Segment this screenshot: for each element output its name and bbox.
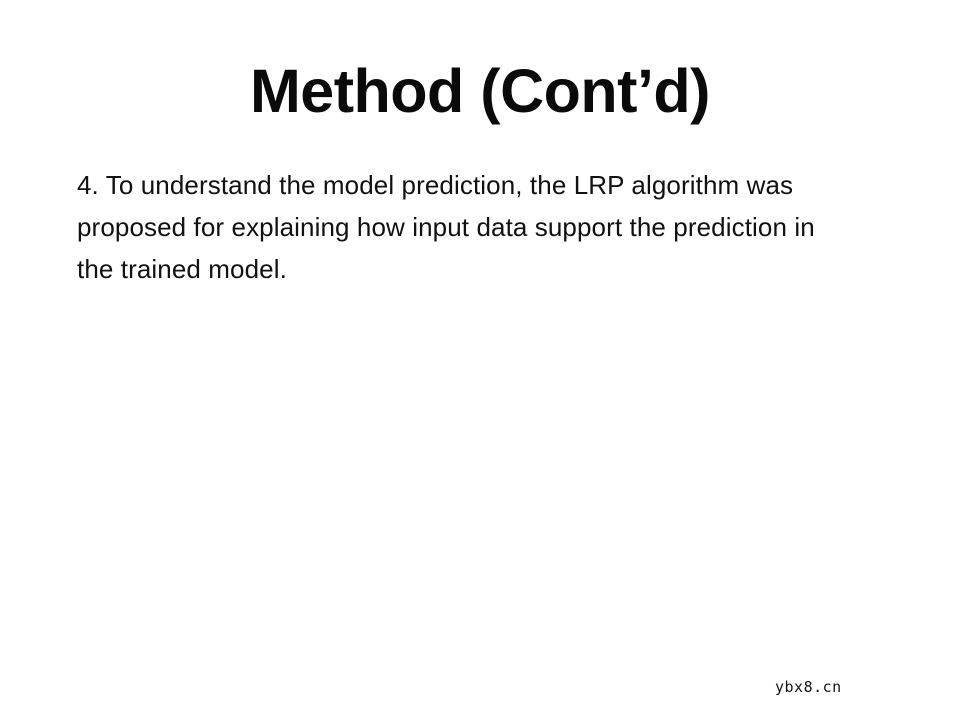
watermark: ybx8.cn [775,679,842,696]
body-line: proposed for explaining how input data s… [77,206,917,248]
slide-body: 4. To understand the model prediction, t… [77,164,917,290]
body-line: the trained model. [77,248,917,290]
slide-canvas: Method (Cont’d) 4. To understand the mod… [0,0,960,720]
body-line: 4. To understand the model prediction, t… [77,164,917,206]
page-title: Method (Cont’d) [0,58,960,124]
